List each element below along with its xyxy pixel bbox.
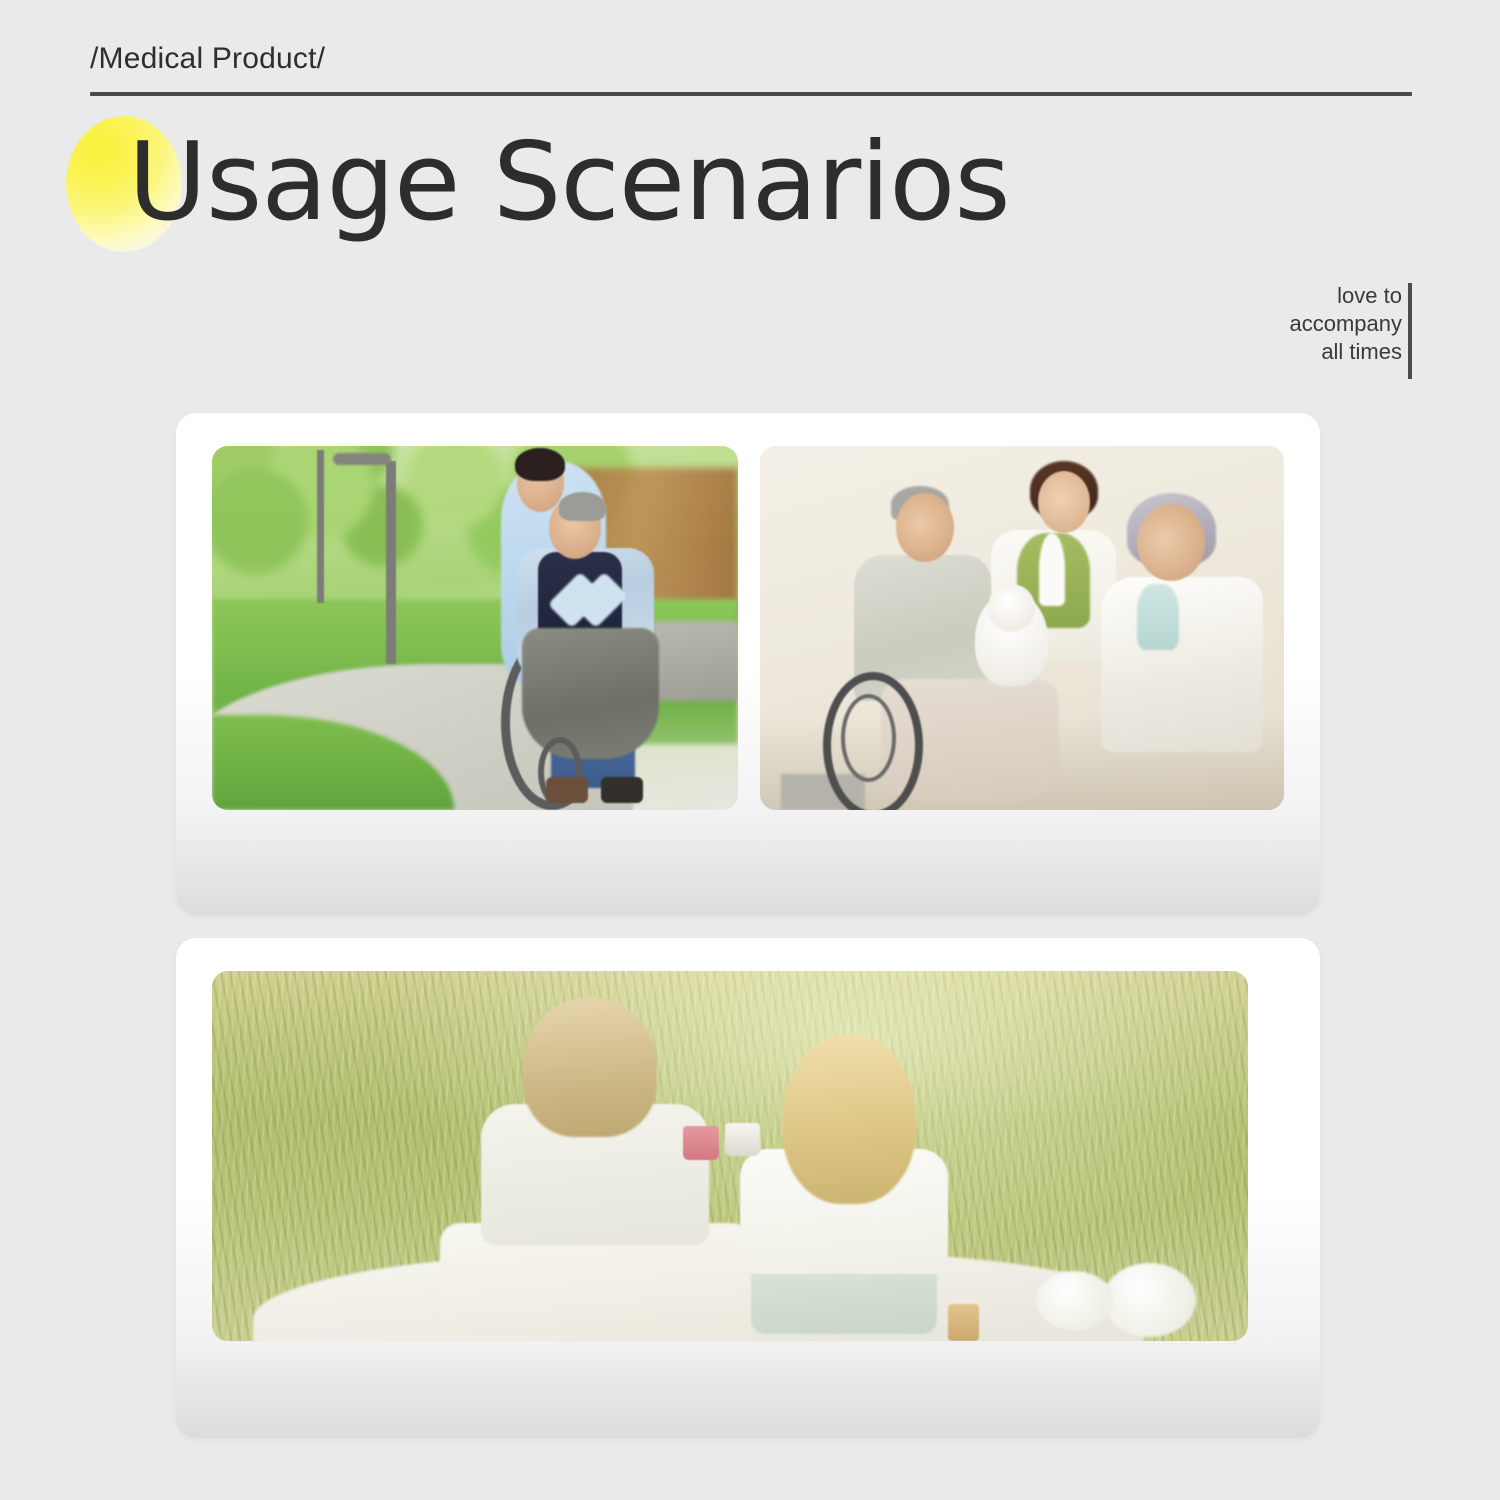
tagline-line-2: accompany <box>1172 310 1402 338</box>
tagline-line-1: love to <box>1172 282 1402 310</box>
tagline-line-3: all times <box>1172 338 1402 366</box>
page-title: Usage Scenarios <box>128 108 1010 258</box>
tagline-vertical-divider <box>1408 283 1412 379</box>
scenario-card-daily-care[interactable]: Daily home and out-of-home care <box>176 413 1320 915</box>
photo-family-with-caregiver-and-dog-indoors <box>760 446 1284 810</box>
scenario-card-outdoor-travel[interactable]: Outdoor Walking & Traveling <box>176 938 1320 1438</box>
photo-two-women-picnic-in-grass-field <box>212 971 1248 1341</box>
scenario-card-media-row <box>212 971 1284 1341</box>
title-block: Usage Scenarios <box>66 116 1066 266</box>
header-divider <box>90 92 1412 96</box>
tagline: love to accompany all times <box>1172 282 1402 366</box>
breadcrumb: /Medical Product/ <box>90 42 325 76</box>
photo-caregiver-pushing-elder-wheelchair-park <box>212 446 738 810</box>
scenario-card-media-row <box>212 446 1284 810</box>
